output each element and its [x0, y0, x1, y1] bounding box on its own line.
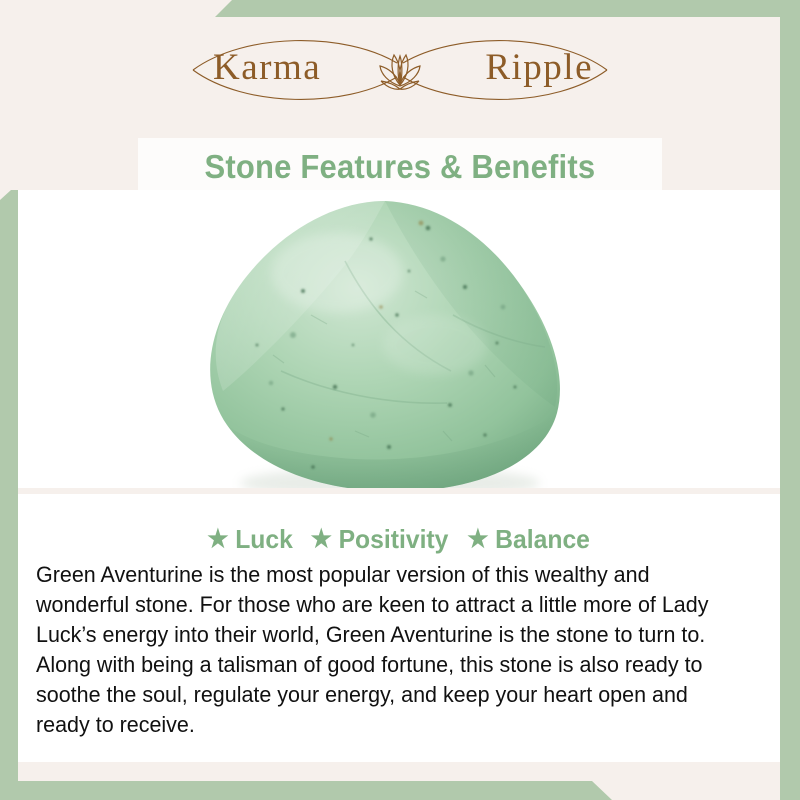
star-icon: ★ — [311, 527, 332, 552]
keyword-item-luck: ★ Luck — [207, 524, 293, 555]
section-title-banner: Stone Features & Benefits — [138, 138, 662, 196]
infographic-canvas: Karma Ripple — [0, 0, 800, 800]
star-icon: ★ — [207, 527, 228, 552]
frame-top-band — [0, 0, 800, 17]
keyword-label: Luck — [235, 524, 293, 555]
product-photo-panel: Green Aventurine — [18, 190, 780, 488]
keyword-label: Balance — [495, 524, 590, 555]
keyword-item-balance: ★ Balance — [467, 524, 590, 555]
green-aventurine-stone-image — [185, 195, 585, 488]
description-text: Green Aventurine is the most popular ver… — [36, 560, 743, 740]
brand-name-left: Karma — [213, 46, 321, 89]
brand-name-right: Ripple — [485, 46, 593, 89]
keyword-list: ★ Luck ★ Positivity ★ Balance — [18, 518, 780, 560]
brand-logo: Karma Ripple — [0, 24, 800, 116]
frame-bottom-band — [0, 781, 800, 800]
page-title: Stone Features & Benefits — [205, 148, 596, 186]
keyword-label: Positivity — [339, 524, 449, 555]
star-icon: ★ — [467, 527, 488, 552]
frame-right-bar — [780, 0, 800, 800]
keyword-item-positivity: ★ Positivity — [311, 524, 449, 555]
frame-left-bar — [0, 190, 18, 800]
